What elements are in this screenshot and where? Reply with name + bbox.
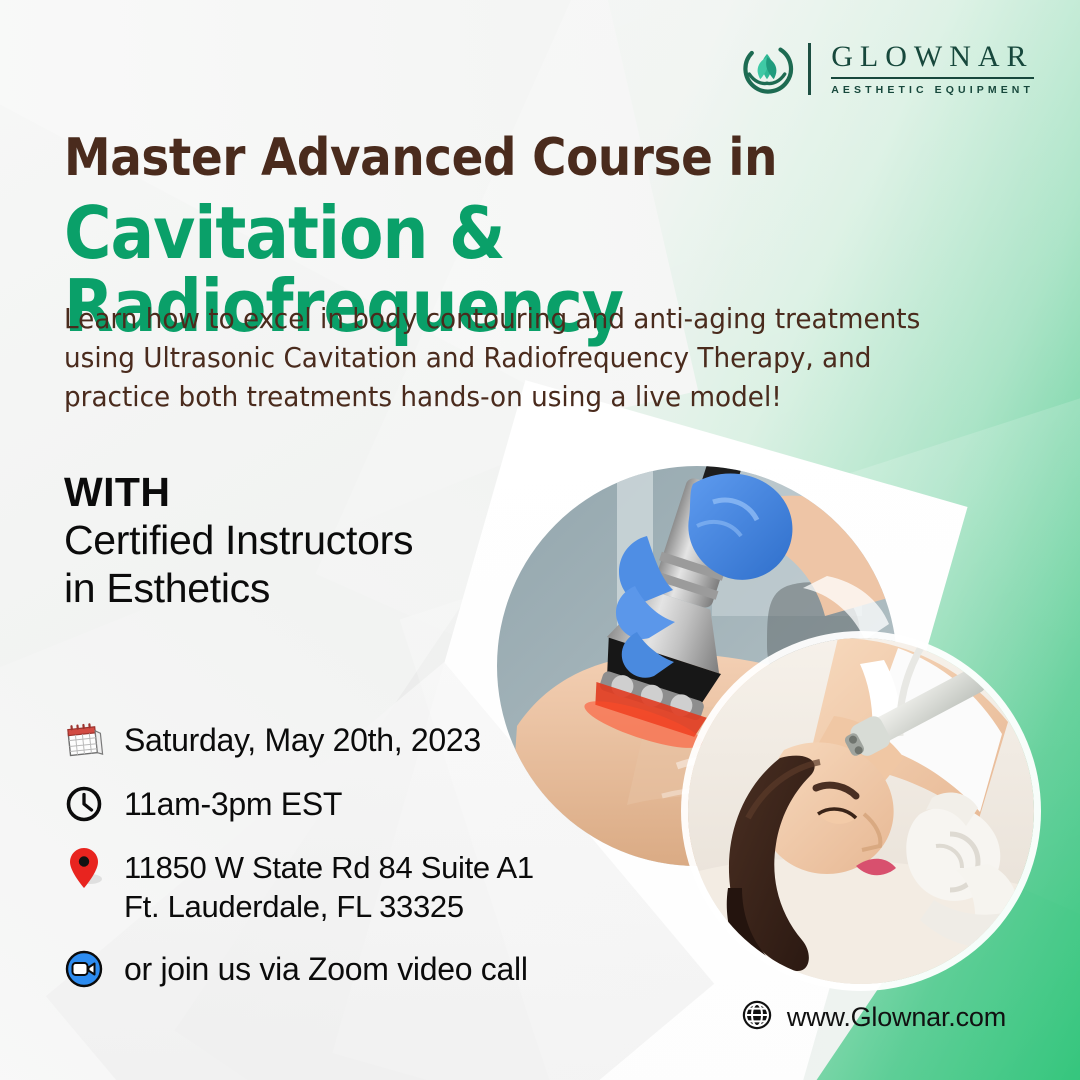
address-line-1: 11850 W State Rd 84 Suite A1	[124, 850, 534, 885]
map-pin-icon	[62, 846, 106, 890]
intro-paragraph: Learn how to excel in body contouring an…	[64, 300, 962, 417]
globe-icon	[741, 999, 773, 1036]
lotus-leaf-icon	[740, 42, 794, 96]
flyer-canvas: GLOWNAR AESTHETIC EQUIPMENT Master Advan…	[0, 0, 1080, 1080]
detail-row-zoom: or join us via Zoom video call	[62, 947, 602, 991]
calendar-icon	[62, 718, 106, 762]
with-role-line-1: Certified Instructors	[64, 516, 584, 564]
detail-row-address: 11850 W State Rd 84 Suite A1 Ft. Lauderd…	[62, 846, 602, 927]
website-url[interactable]: www.Glownar.com	[787, 1002, 1006, 1033]
website-footer[interactable]: www.Glownar.com	[741, 999, 1006, 1036]
detail-address-text: 11850 W State Rd 84 Suite A1 Ft. Lauderd…	[124, 846, 534, 927]
headline-line-1: Master Advanced Course in	[64, 132, 928, 185]
brand-tagline: AESTHETIC EQUIPMENT	[831, 81, 1034, 96]
detail-row-date: Saturday, May 20th, 2023	[62, 718, 602, 762]
detail-zoom-text: or join us via Zoom video call	[124, 947, 528, 989]
detail-time-text: 11am-3pm EST	[124, 782, 342, 824]
radiofrequency-facial-treatment-photo	[688, 638, 1034, 984]
with-label: WITH	[64, 470, 584, 516]
logo-divider	[808, 43, 811, 95]
video-call-icon	[62, 947, 106, 991]
detail-row-time: 11am-3pm EST	[62, 782, 602, 826]
clock-icon	[62, 782, 106, 826]
logo-wordmark: GLOWNAR AESTHETIC EQUIPMENT	[825, 42, 1034, 96]
with-role-line-2: in Esthetics	[64, 564, 584, 612]
event-details-list: Saturday, May 20th, 2023 11am-3pm EST	[62, 718, 602, 1011]
with-block: WITH Certified Instructors in Esthetics	[64, 470, 584, 613]
brand-name: GLOWNAR	[831, 42, 1034, 79]
address-line-2: Ft. Lauderdale, FL 33325	[124, 889, 464, 924]
brand-logo: GLOWNAR AESTHETIC EQUIPMENT	[740, 42, 1034, 96]
detail-date-text: Saturday, May 20th, 2023	[124, 718, 481, 760]
